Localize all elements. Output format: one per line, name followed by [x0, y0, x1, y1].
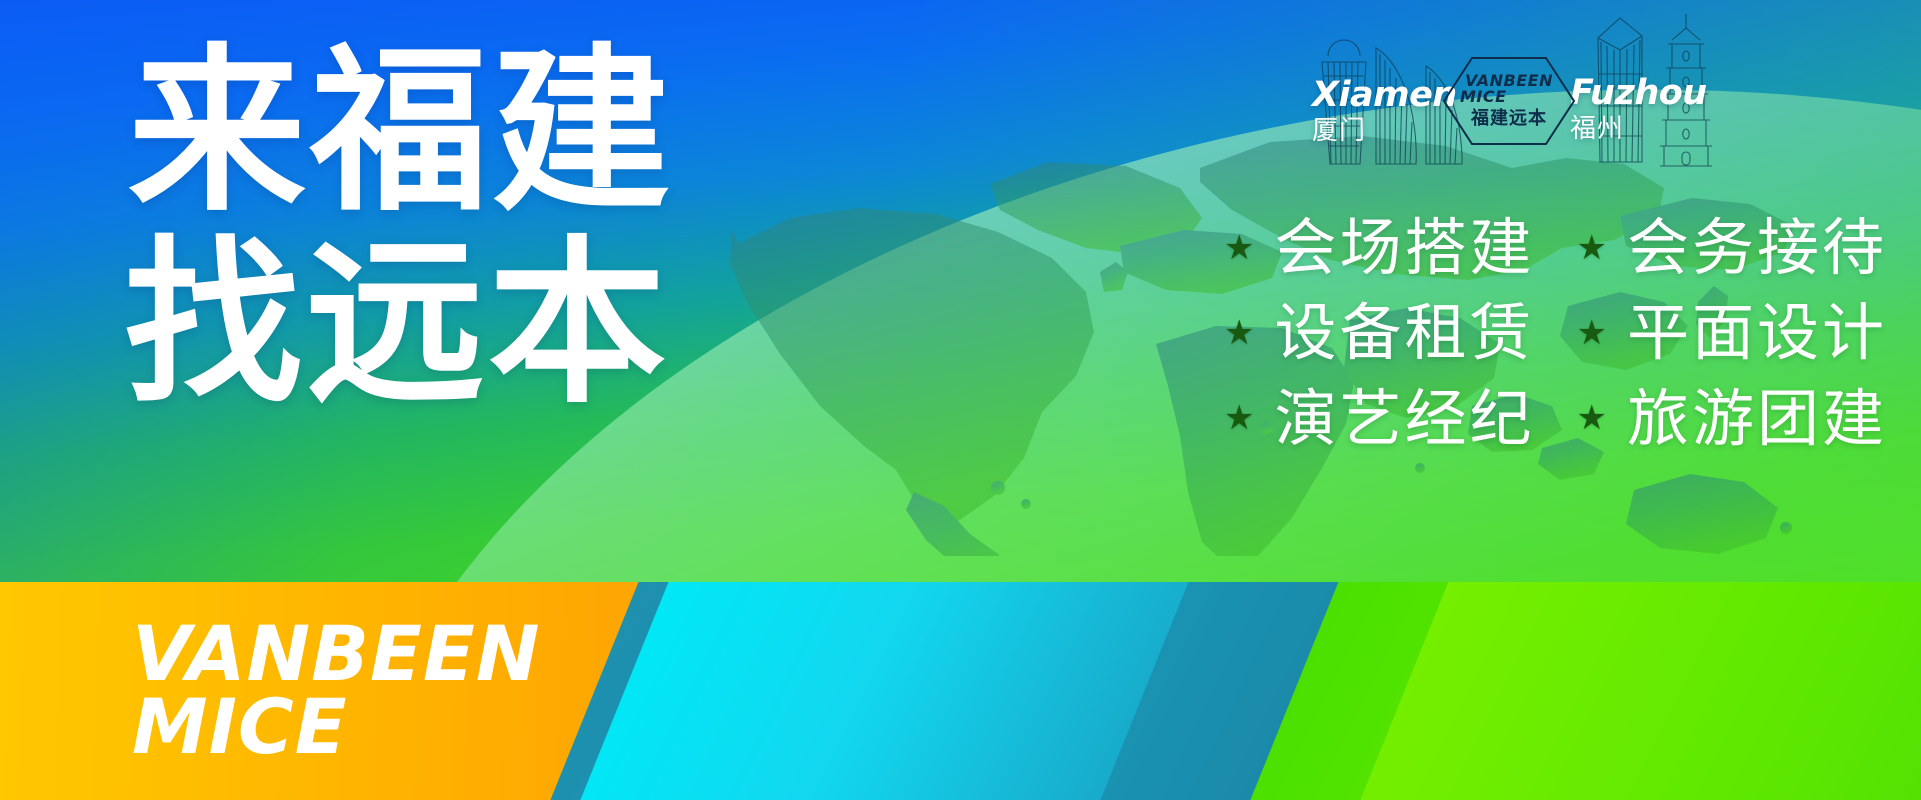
brand-line-2: MICE: [132, 691, 540, 764]
service-label: 会场搭建: [1274, 208, 1534, 287]
headline-line-1: 来福建: [128, 36, 674, 228]
service-item-4: ★ 演艺经纪: [1224, 379, 1535, 458]
hexagon-logo-text: VANBEEN MICE 福建远本: [1442, 56, 1576, 146]
service-label: 会务接待: [1627, 208, 1887, 287]
services-list: ★ 会场搭建 ★ 会务接待 ★ 设备租赁 ★ 平面设计 ★ 演艺经纪 ★ 旅游团: [1224, 208, 1887, 458]
service-label: 演艺经纪: [1274, 379, 1534, 458]
city-name-en: Xiamen: [1312, 78, 1457, 113]
city-label-xiamen: Xiamen 厦门: [1312, 78, 1457, 147]
vanbeen-hexagon-logo: VANBEEN MICE 福建远本: [1442, 56, 1576, 146]
promo-banner: 来福建 找远本 ★ 会场搭建 ★ 会务接待 ★ 设备租赁 ★ 平面设计 ★: [0, 0, 1921, 800]
city-label-fuzhou: Fuzhou 福州: [1570, 76, 1707, 145]
hex-brand-line-2: MICE: [1460, 89, 1507, 105]
service-item-2: ★ 设备租赁: [1224, 293, 1535, 372]
star-icon: ★: [1577, 316, 1607, 350]
service-item-5: ★ 旅游团建: [1577, 379, 1888, 458]
star-icon: ★: [1224, 316, 1254, 350]
city-name-cn: 福州: [1570, 114, 1707, 145]
star-icon: ★: [1224, 231, 1254, 265]
hex-brand-cn: 福建远本: [1471, 108, 1547, 130]
bottom-brand-bar: VANBEEN MICE: [0, 582, 1921, 800]
service-label: 旅游团建: [1627, 379, 1887, 458]
service-item-0: ★ 会场搭建: [1224, 208, 1535, 287]
page-title: 来福建 找远本: [128, 36, 674, 420]
city-name-cn: 厦门: [1312, 116, 1457, 147]
brand-line-1: VANBEEN: [132, 618, 540, 691]
main-panel: 来福建 找远本 ★ 会场搭建 ★ 会务接待 ★ 设备租赁 ★ 平面设计 ★: [0, 0, 1921, 582]
headline-line-2: 找远本: [124, 228, 674, 420]
service-item-1: ★ 会务接待: [1577, 208, 1888, 287]
service-label: 设备租赁: [1274, 293, 1534, 372]
star-icon: ★: [1577, 231, 1607, 265]
star-icon: ★: [1577, 401, 1607, 435]
service-label: 平面设计: [1627, 293, 1887, 372]
brand-wordmark: VANBEEN MICE: [132, 618, 540, 764]
city-logo-cluster: Xiamen 厦门 Fuzhou 福州 VANBEEN MICE 福建远本: [1318, 4, 1738, 172]
star-icon: ★: [1224, 401, 1254, 435]
service-item-3: ★ 平面设计: [1577, 293, 1888, 372]
city-name-en: Fuzhou: [1570, 76, 1707, 111]
